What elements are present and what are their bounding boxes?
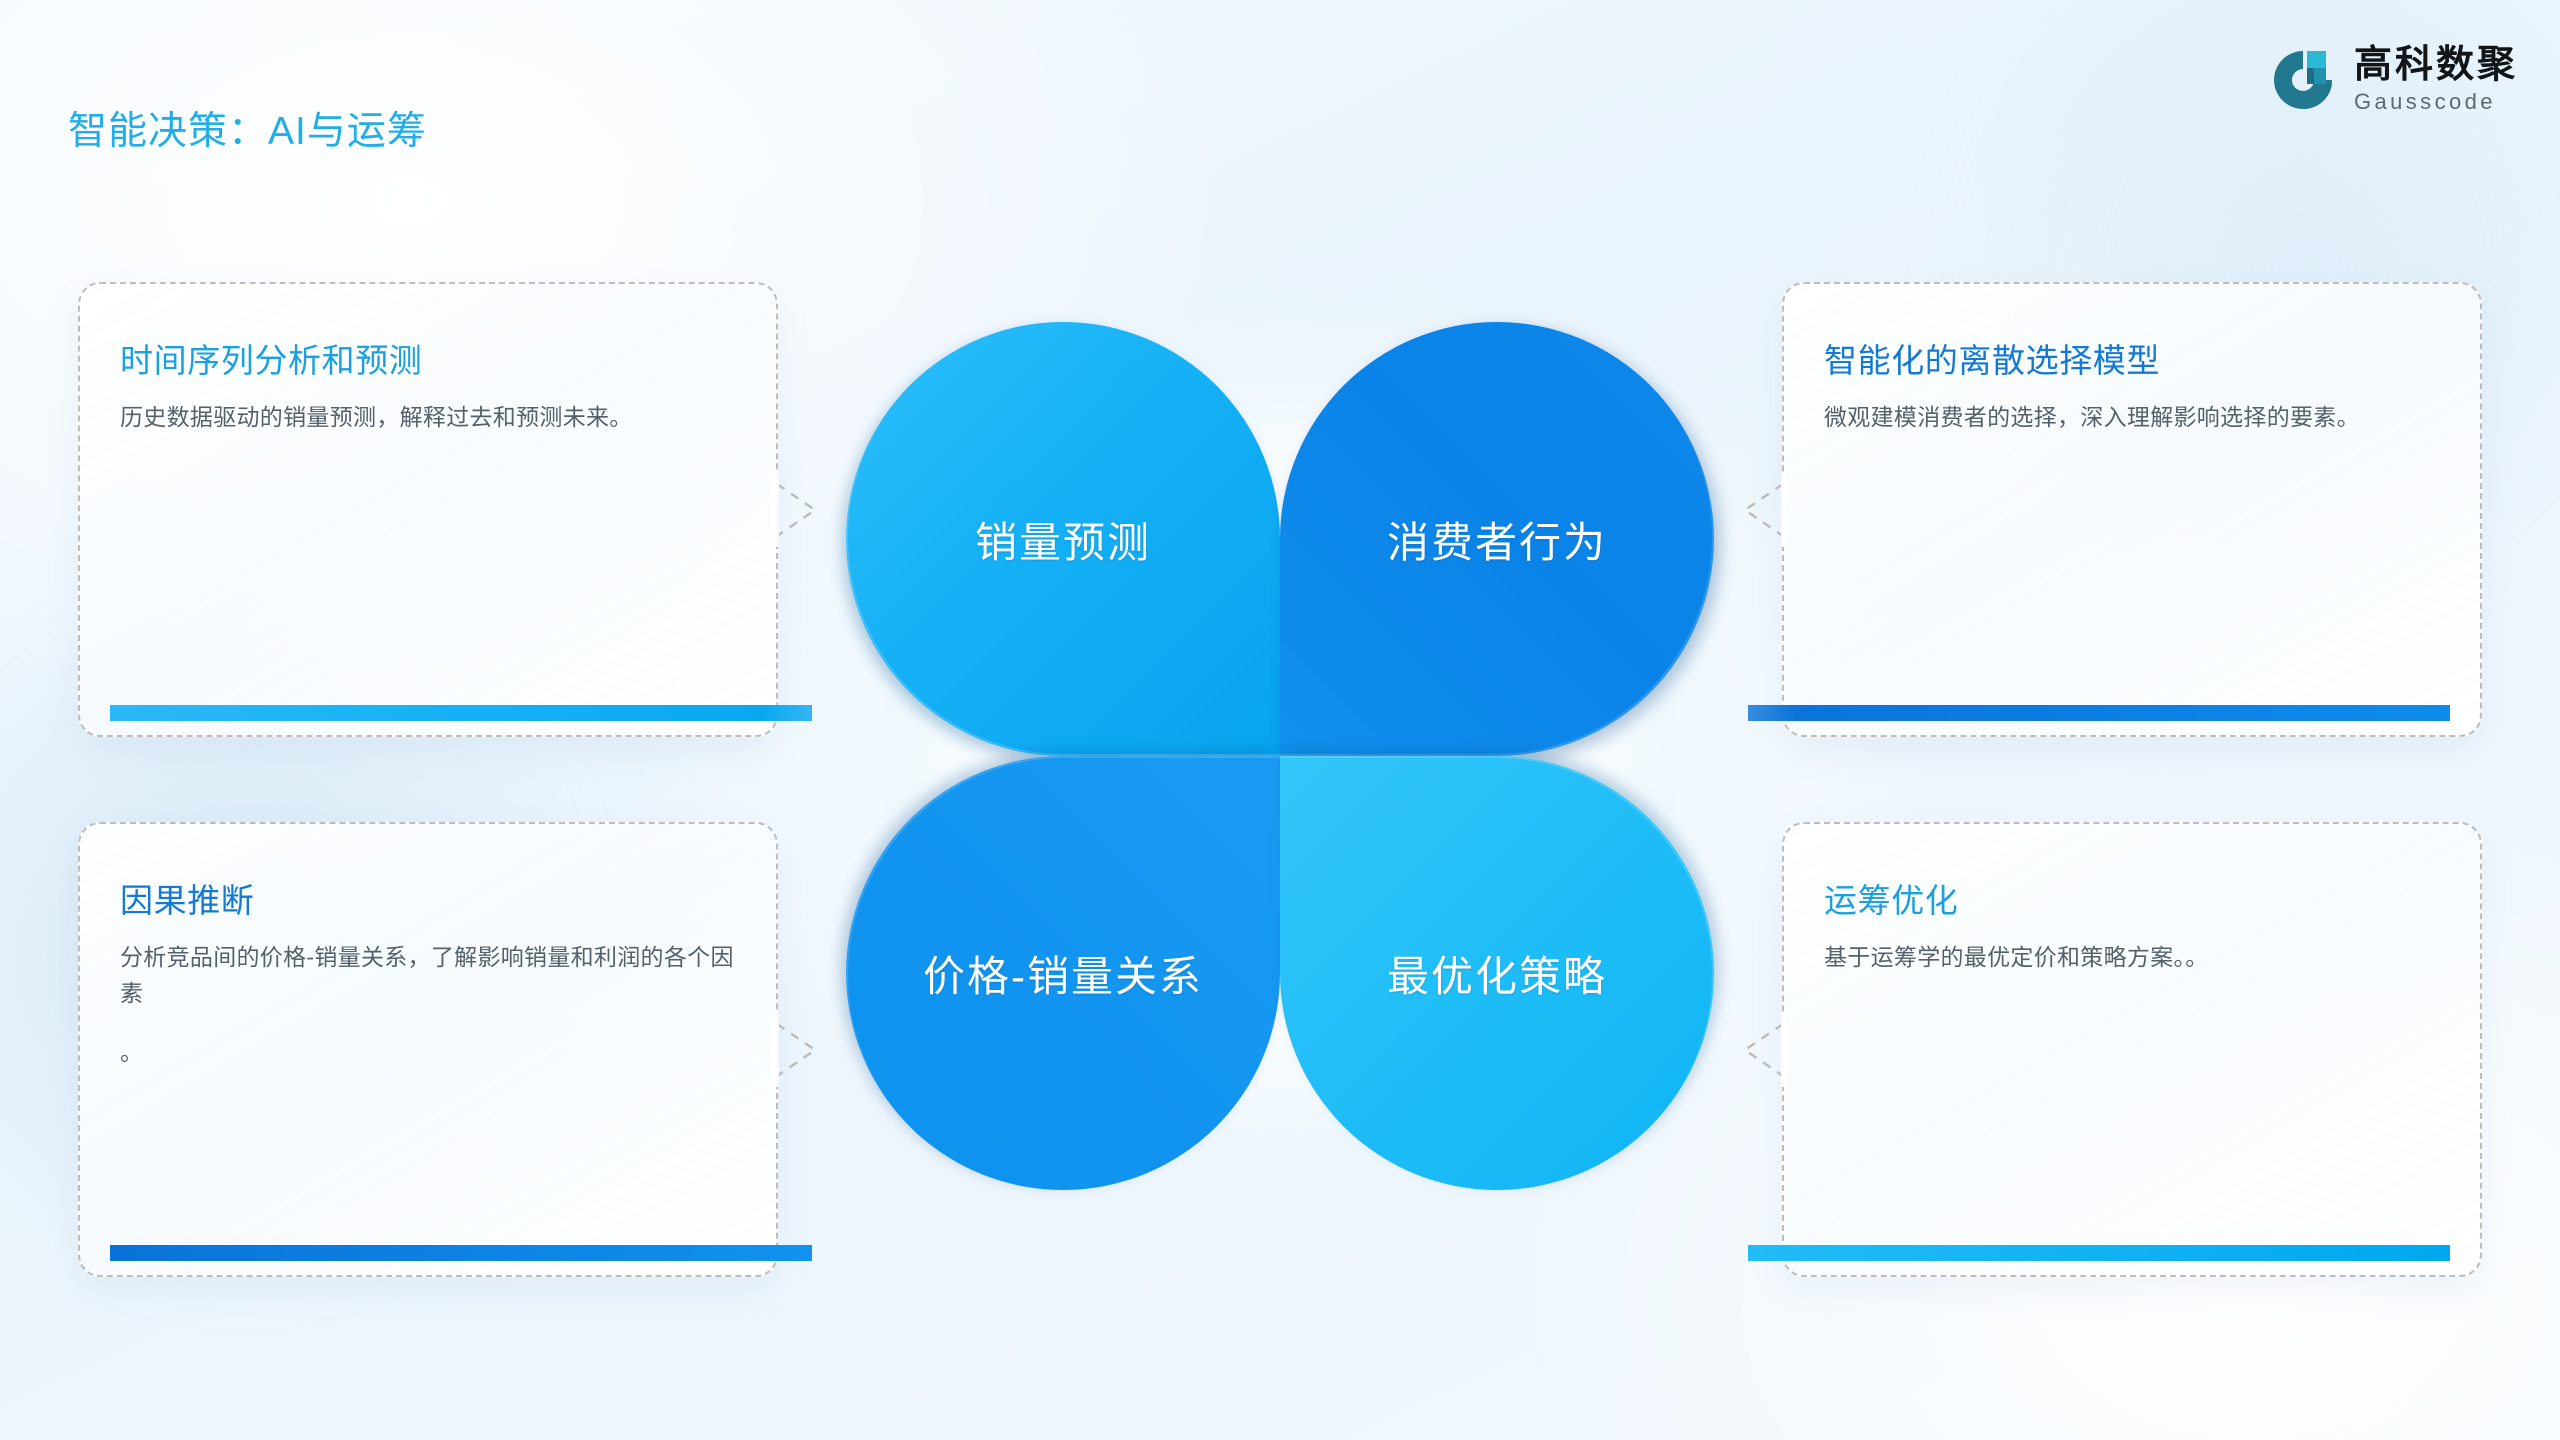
petal-sales-forecast[interactable]: 销量预测 xyxy=(846,322,1280,756)
card-accent-bar xyxy=(1748,1245,2450,1261)
petal-optimization-strategy[interactable]: 最优化策略 xyxy=(1280,756,1714,1190)
petal-label: 销量预测 xyxy=(975,509,1151,570)
card-body-text: 历史数据驱动的销量预测，解释过去和预测未来。 xyxy=(120,404,633,430)
card-title: 智能化的离散选择模型 xyxy=(1824,334,2440,382)
card-body: 微观建模消费者的选择，深入理解影响选择的要素。 xyxy=(1824,400,2440,436)
card-accent-bar xyxy=(110,705,812,721)
brand-name-cn: 高科数聚 xyxy=(2354,46,2518,84)
page-title: 智能决策：AI与运筹 xyxy=(68,100,427,156)
card-body-text: 分析竞品间的价格-销量关系，了解影响销量和利润的各个因素 xyxy=(120,944,734,1006)
card-body-text: 微观建模消费者的选择，深入理解影响选择的要素。 xyxy=(1824,404,2360,430)
card-causal-inference[interactable]: 因果推断 分析竞品间的价格-销量关系，了解影响销量和利润的各个因素 。 xyxy=(78,822,778,1277)
card-discrete-choice[interactable]: 智能化的离散选择模型 微观建模消费者的选择，深入理解影响选择的要素。 xyxy=(1782,282,2482,737)
petal-label: 消费者行为 xyxy=(1387,509,1607,570)
brand-name-en: Gausscode xyxy=(2354,91,2518,113)
card-notch-mask xyxy=(771,473,779,547)
card-title: 因果推断 xyxy=(120,874,736,922)
card-title: 时间序列分析和预测 xyxy=(120,334,736,382)
card-time-series[interactable]: 时间序列分析和预测 历史数据驱动的销量预测，解释过去和预测未来。 xyxy=(78,282,778,737)
flower-diagram: 销量预测 消费者行为 价格-销量关系 最优化策略 xyxy=(846,322,1714,1190)
card-body-text: 基于运筹学的最优定价和策略方案。。 xyxy=(1824,944,2209,970)
petal-consumer-behavior[interactable]: 消费者行为 xyxy=(1280,322,1714,756)
card-body-tail: 。 xyxy=(120,1035,736,1071)
petal-label: 价格-销量关系 xyxy=(923,943,1203,1004)
card-operations-research[interactable]: 运筹优化 基于运筹学的最优定价和策略方案。。 xyxy=(1782,822,2482,1277)
petal-price-sales-relationship[interactable]: 价格-销量关系 xyxy=(846,756,1280,1190)
card-accent-bar xyxy=(110,1245,812,1261)
petal-label: 最优化策略 xyxy=(1387,943,1607,1004)
card-title: 运筹优化 xyxy=(1824,874,2440,922)
card-body: 分析竞品间的价格-销量关系，了解影响销量和利润的各个因素 。 xyxy=(120,940,736,1071)
brand-logo: 高科数聚 Gausscode xyxy=(2270,46,2518,113)
brand-wordmark: 高科数聚 Gausscode xyxy=(2354,46,2518,113)
gausscode-g-mark-icon xyxy=(2270,47,2336,113)
card-accent-bar xyxy=(1748,705,2450,721)
card-body: 基于运筹学的最优定价和策略方案。。 xyxy=(1824,940,2440,976)
card-notch-mask xyxy=(771,1013,779,1087)
card-notch-mask xyxy=(1781,473,1789,547)
card-notch-mask xyxy=(1781,1013,1789,1087)
card-body: 历史数据驱动的销量预测，解释过去和预测未来。 xyxy=(120,400,736,436)
